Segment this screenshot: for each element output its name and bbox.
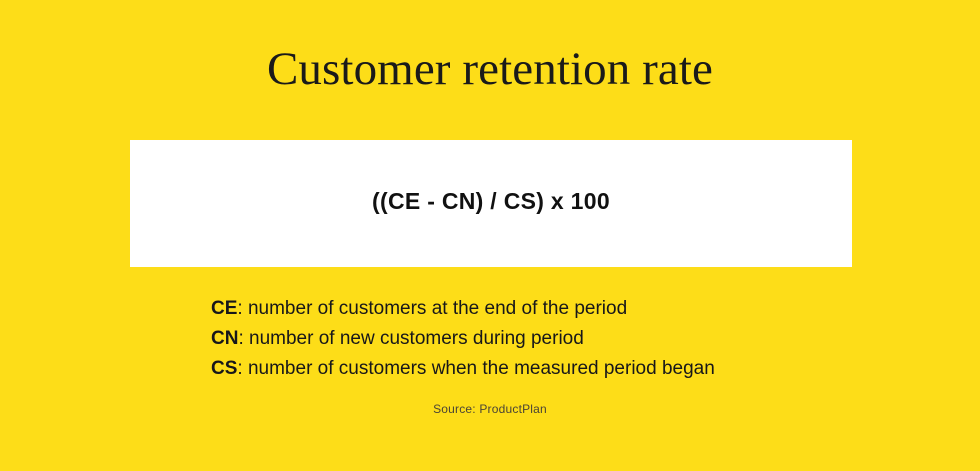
definition-term: CN [211, 328, 238, 349]
definition-item-cn: CN: number of new customers during perio… [211, 324, 831, 354]
definition-item-cs: CS: number of customers when the measure… [211, 354, 831, 384]
formula-box: ((CE - CN) / CS) x 100 [130, 140, 852, 267]
definition-separator: : [238, 328, 249, 349]
page-title: Customer retention rate [0, 44, 980, 95]
definition-description: number of new customers during period [249, 328, 584, 349]
slide-canvas: Customer retention rate ((CE - CN) / CS)… [0, 0, 980, 471]
definition-term: CE [211, 298, 237, 319]
definition-description: number of customers when the measured pe… [248, 358, 715, 379]
definition-description: number of customers at the end of the pe… [248, 298, 627, 319]
definitions-list: CE: number of customers at the end of th… [211, 294, 831, 384]
definition-separator: : [237, 298, 248, 319]
formula-expression: ((CE - CN) / CS) x 100 [130, 188, 852, 215]
source-attribution: Source: ProductPlan [0, 402, 980, 416]
definition-item-ce: CE: number of customers at the end of th… [211, 294, 831, 324]
definition-separator: : [237, 358, 248, 379]
definition-term: CS [211, 358, 237, 379]
